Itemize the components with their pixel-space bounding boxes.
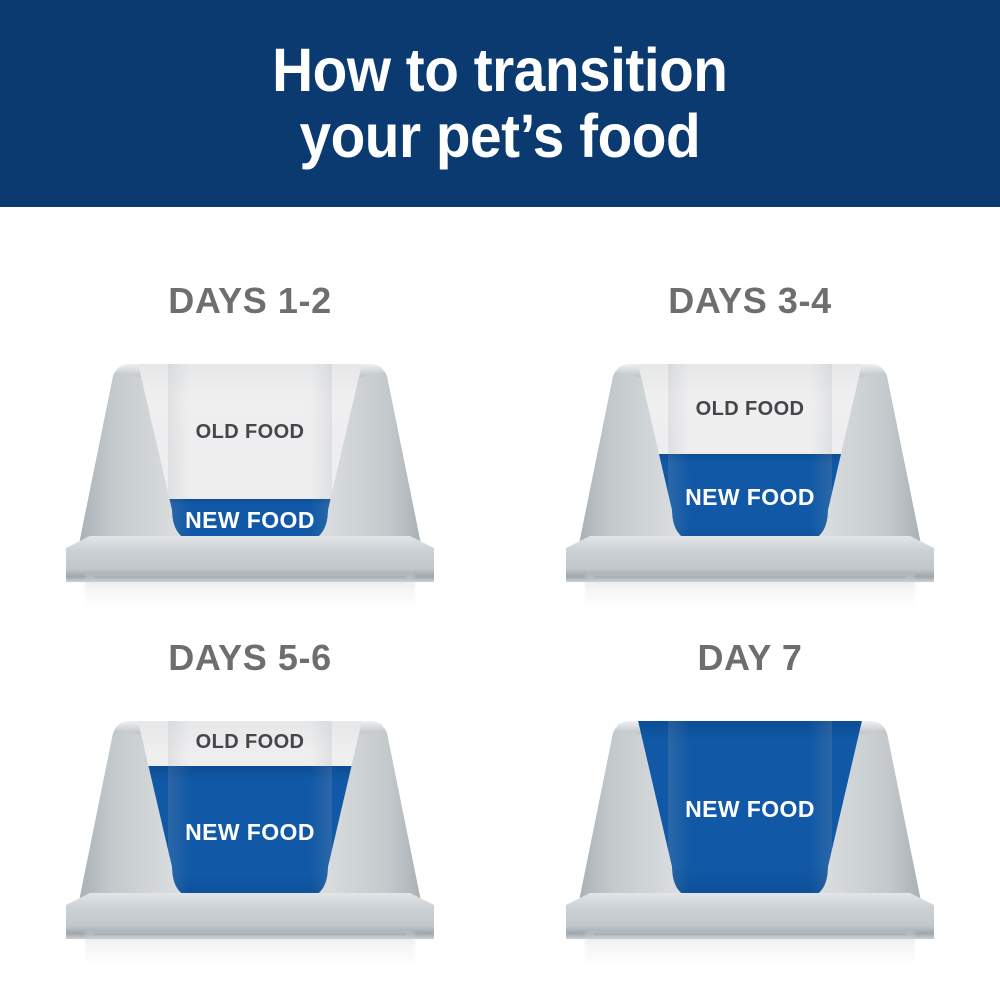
bowl-base bbox=[66, 536, 434, 582]
bowl-contact-shadow bbox=[594, 933, 906, 935]
panel-title: DAYS 5-6 bbox=[168, 640, 332, 676]
bowl-illustration bbox=[560, 701, 940, 963]
bowl-base bbox=[566, 893, 934, 939]
bowl-illustration bbox=[60, 344, 440, 606]
bowl-day-7: NEW FOOD bbox=[560, 701, 940, 963]
infographic-page: How to transition your pet’s food DAYS 1… bbox=[0, 0, 1000, 1000]
page-title: How to transition your pet’s food bbox=[272, 38, 727, 169]
bowl-contact-shadow bbox=[594, 576, 906, 578]
panel-days-5-6: DAYS 5-6 bbox=[0, 603, 500, 1000]
bowl-illustration bbox=[60, 701, 440, 963]
panel-day-7: DAY 7 bbox=[500, 603, 1000, 1000]
header-band: How to transition your pet’s food bbox=[0, 0, 1000, 207]
bowl-days-5-6: OLD FOODNEW FOOD bbox=[60, 701, 440, 963]
bowl-grid: DAYS 1-2 bbox=[0, 207, 1000, 1000]
bowl-days-1-2: OLD FOODNEW FOOD bbox=[60, 344, 440, 606]
panel-title: DAYS 3-4 bbox=[668, 283, 832, 319]
bowl-illustration bbox=[560, 344, 940, 606]
panel-days-3-4: DAYS 3-4 bbox=[500, 207, 1000, 603]
panel-title: DAY 7 bbox=[697, 640, 802, 676]
bowl-contact-shadow bbox=[94, 576, 406, 578]
panel-title: DAYS 1-2 bbox=[168, 283, 332, 319]
panel-days-1-2: DAYS 1-2 bbox=[0, 207, 500, 603]
bowl-base bbox=[566, 536, 934, 582]
bowl-contact-shadow bbox=[94, 933, 406, 935]
bowl-base bbox=[66, 893, 434, 939]
bowl-days-3-4: OLD FOODNEW FOOD bbox=[560, 344, 940, 606]
